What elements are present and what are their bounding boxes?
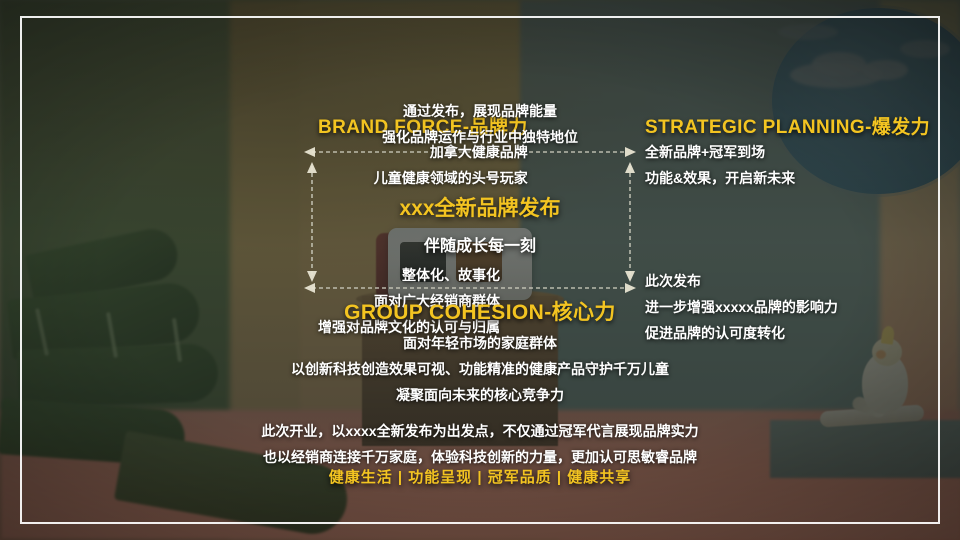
strategic-planning-line-1: 全新品牌+冠军到场: [645, 139, 930, 165]
group-cohesion-heading: GROUP COHESION-核心力: [344, 296, 616, 326]
strategic-planning-heading: STRATEGIC PLANNING-爆发力: [645, 112, 930, 139]
group-cohesion-lines: 面对年轻市场的家庭群体 以创新科技创造效果可视、功能精准的健康产品守护千万儿童 …: [0, 330, 960, 408]
group-cohesion-line-1: 面对年轻市场的家庭群体: [0, 330, 960, 356]
bottom-right-line-1: 此次发布: [645, 268, 838, 294]
group-cohesion-line-2: 以创新科技创造效果可视、功能精准的健康产品守护千万儿童: [0, 356, 960, 382]
center-subtitle: 伴随成长每一刻: [0, 232, 960, 256]
top-middle-line-1: 通过发布，展现品牌能量: [360, 98, 600, 124]
top-middle-line-2: 强化品牌运作与行业中独特地位: [360, 124, 600, 150]
center-title: xxx全新品牌发布: [0, 192, 960, 222]
quadrant-top-middle: 通过发布，展现品牌能量 强化品牌运作与行业中独特地位: [360, 98, 600, 150]
tagline: 健康生活 | 功能呈现 | 冠军品质 | 健康共享: [0, 466, 960, 487]
summary-paragraph: 此次开业，以xxxx全新发布为出发点，不仅通过冠军代言展现品牌实力 也以经销商连…: [0, 418, 960, 470]
presentation-slide: BRAND FORCE-品牌力 加拿大健康品牌 儿童健康领域的头号玩家 通过发布…: [0, 0, 960, 540]
group-cohesion-line-3: 凝聚面向未来的核心竞争力: [0, 382, 960, 408]
brand-force-line-2: 儿童健康领域的头号玩家: [318, 165, 528, 191]
quadrant-top-right: STRATEGIC PLANNING-爆发力 全新品牌+冠军到场 功能&效果，开…: [645, 112, 930, 191]
summary-line-1: 此次开业，以xxxx全新发布为出发点，不仅通过冠军代言展现品牌实力: [0, 418, 960, 444]
strategic-planning-line-2: 功能&效果，开启新未来: [645, 165, 930, 191]
group-cohesion-block: GROUP COHESION-核心力: [0, 296, 960, 326]
bottom-left-line-1: 整体化、故事化: [318, 262, 500, 288]
